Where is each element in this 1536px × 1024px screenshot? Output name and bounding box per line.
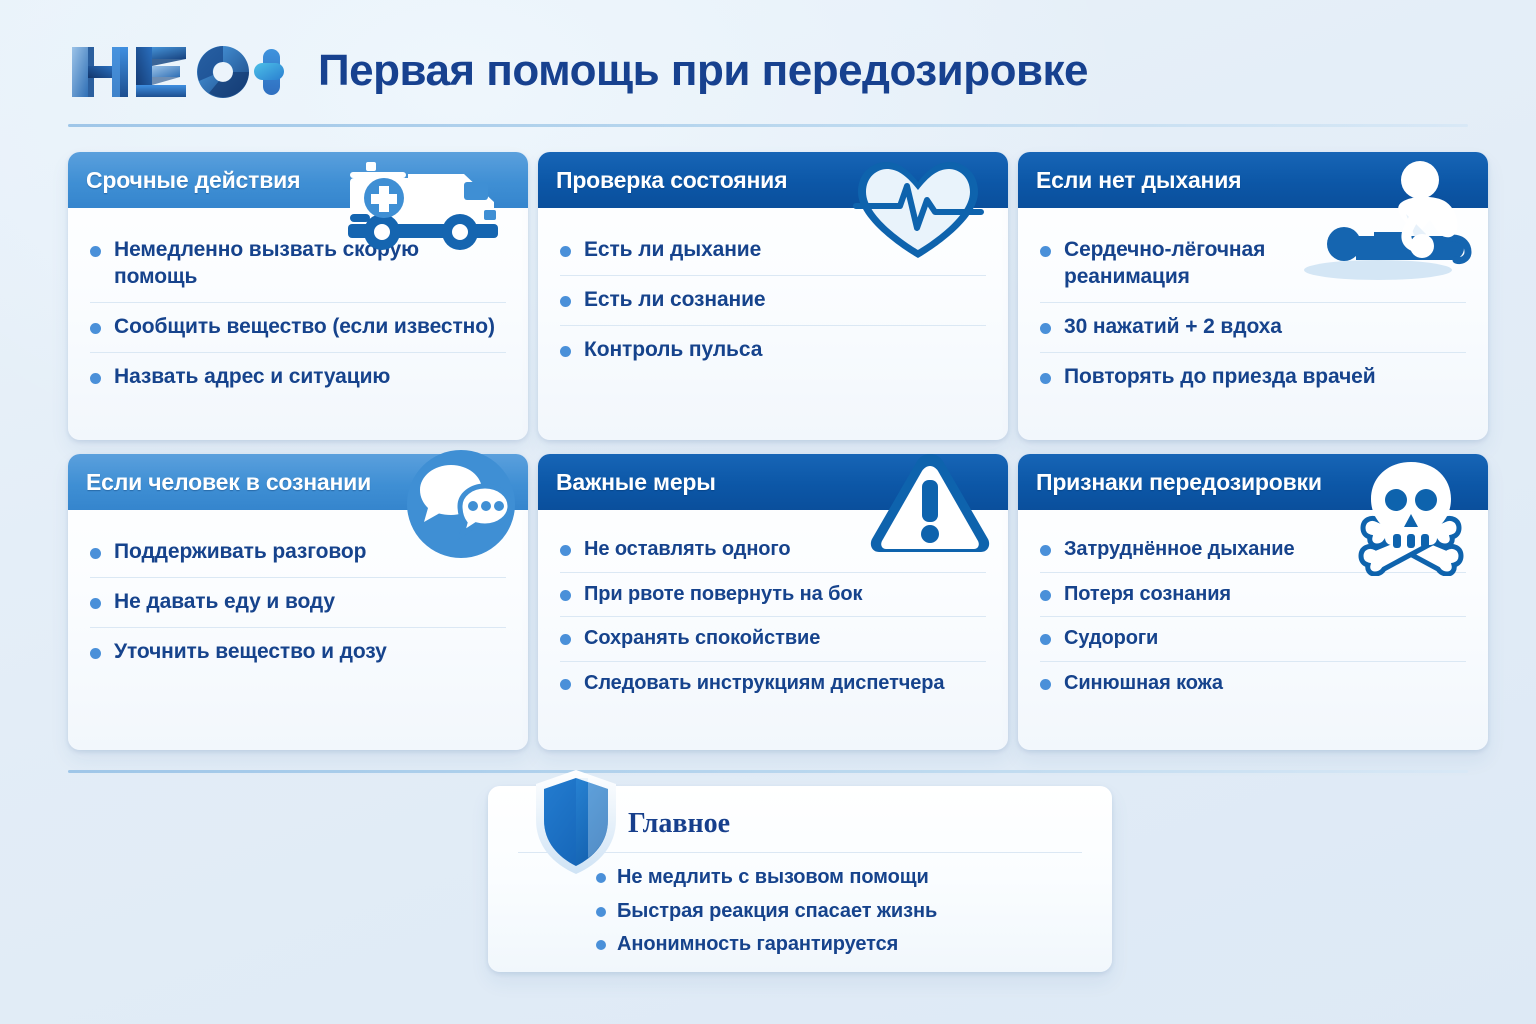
page-title: Первая помощь при передозировке — [318, 46, 1088, 96]
card-items: Немедленно вызвать скорую помощь Сообщит… — [68, 208, 528, 440]
bullet-icon — [1040, 590, 1051, 601]
bullet-icon — [560, 545, 571, 556]
list-item: Немедленно вызвать скорую помощь — [90, 226, 506, 303]
list-item: Уточнить вещество и дозу — [90, 628, 506, 677]
list-item-text: Сохранять спокойствие — [584, 626, 820, 652]
list-item-text: Сердечно-лёгочная реанимация — [1064, 237, 1309, 291]
list-item-text: Уточнить вещество и дозу — [114, 639, 387, 666]
bullet-icon — [90, 648, 101, 659]
card-items: Не оставлять одного При рвоте повернуть … — [538, 510, 1008, 750]
list-item: Синюшная кожа — [1040, 662, 1466, 706]
list-item-text: Следовать инструкциям диспетчера — [584, 671, 944, 697]
list-item: Не медлить с вызовом помощи — [596, 861, 1082, 895]
list-item: Судороги — [1040, 617, 1466, 662]
bullet-icon — [1040, 634, 1051, 645]
card-items: Сердечно-лёгочная реанимация 30 нажатий … — [1018, 208, 1488, 440]
list-item: Не давать еду и воду — [90, 578, 506, 628]
list-item: 30 нажатий + 2 вдоха — [1040, 303, 1466, 353]
list-item: Не оставлять одного — [560, 528, 986, 573]
list-item-text: Немедленно вызвать скорую помощь — [114, 237, 506, 291]
card-grid: Срочные действия — [68, 152, 1468, 750]
list-item-text: 30 нажатий + 2 вдоха — [1064, 314, 1282, 341]
bullet-icon — [90, 246, 101, 257]
bullet-icon — [596, 907, 606, 917]
list-item-text: Назвать адрес и ситуацию — [114, 364, 390, 391]
list-item-text: Контроль пульса — [584, 337, 762, 364]
card-title: Важные меры — [556, 469, 716, 496]
card-items: Затруднённое дыхание Потеря сознания Суд… — [1018, 510, 1488, 750]
summary-panel: Главное Не медлить с вызовом помощи Быст… — [488, 786, 1112, 972]
card-title: Признаки передозировки — [1036, 469, 1322, 496]
card-urgent-actions[interactable]: Срочные действия — [68, 152, 528, 440]
bottom-divider — [68, 770, 1468, 773]
list-item-text: Затруднённое дыхание — [1064, 537, 1295, 563]
bullet-icon — [560, 679, 571, 690]
card-header: Важные меры — [538, 454, 1008, 510]
list-item-text: Судороги — [1064, 626, 1158, 652]
bullet-icon — [560, 590, 571, 601]
summary-title: Главное — [628, 808, 730, 840]
card-header: Срочные действия — [68, 152, 528, 208]
card-header: Если человек в сознании — [68, 454, 528, 510]
card-title: Проверка состояния — [556, 167, 787, 194]
list-item-text: Не оставлять одного — [584, 537, 791, 563]
card-conscious-person[interactable]: Если человек в сознании Поддерживать раз… — [68, 454, 528, 750]
card-important-measures[interactable]: Важные меры Не оставлять одного При рвот… — [538, 454, 1008, 750]
list-item: Назвать адрес и ситуацию — [90, 353, 506, 402]
bullet-icon — [1040, 373, 1051, 384]
list-item: Повторять до приезда врачей — [1040, 353, 1466, 402]
card-header: Проверка состояния — [538, 152, 1008, 208]
list-item: Потеря сознания — [1040, 573, 1466, 618]
infographic-page: Первая помощь при передозировке Срочные … — [0, 0, 1536, 1024]
list-item: При рвоте повернуть на бок — [560, 573, 986, 618]
list-item-text: Синюшная кожа — [1064, 671, 1223, 697]
bullet-icon — [90, 323, 101, 334]
card-items: Поддерживать разговор Не давать еду и во… — [68, 510, 528, 750]
list-item-text: Не давать еду и воду — [114, 589, 335, 616]
card-header: Если нет дыхания — [1018, 152, 1488, 208]
card-no-breathing[interactable]: Если нет дыхания — [1018, 152, 1488, 440]
bullet-icon — [1040, 323, 1051, 334]
card-title: Если нет дыхания — [1036, 167, 1241, 194]
page-header: Первая помощь при передозировке — [68, 28, 1468, 114]
card-items: Есть ли дыхание Есть ли сознание Контрол… — [538, 208, 1008, 440]
bullet-icon — [560, 634, 571, 645]
list-item-text: Анонимность гарантируется — [617, 932, 898, 958]
list-item-text: Есть ли сознание — [584, 287, 766, 314]
list-item-text: При рвоте повернуть на бок — [584, 582, 862, 608]
card-title: Если человек в сознании — [86, 469, 371, 496]
card-overdose-signs[interactable]: Признаки передозировки — [1018, 454, 1488, 750]
neo-plus-logo — [68, 39, 284, 103]
summary-items: Не медлить с вызовом помощи Быстрая реак… — [518, 861, 1082, 962]
card-title: Срочные действия — [86, 167, 300, 194]
bullet-icon — [90, 548, 101, 559]
list-item-text: Повторять до приезда врачей — [1064, 364, 1376, 391]
bullet-icon — [560, 296, 571, 307]
list-item-text: Не медлить с вызовом помощи — [617, 865, 929, 891]
bullet-icon — [1040, 246, 1051, 257]
card-condition-check[interactable]: Проверка состояния Есть ли дыхание Есть … — [538, 152, 1008, 440]
bullet-icon — [596, 940, 606, 950]
bullet-icon — [1040, 679, 1051, 690]
list-item: Затруднённое дыхание — [1040, 528, 1466, 573]
bullet-icon — [560, 246, 571, 257]
header-divider — [68, 124, 1468, 127]
list-item-text: Есть ли дыхание — [584, 237, 761, 264]
list-item: Следовать инструкциям диспетчера — [560, 662, 986, 706]
bullet-icon — [1040, 545, 1051, 556]
list-item-text: Сообщить вещество (если известно) — [114, 314, 495, 341]
list-item: Сообщить вещество (если известно) — [90, 303, 506, 353]
bullet-icon — [90, 598, 101, 609]
list-item: Есть ли дыхание — [560, 226, 986, 276]
list-item-text: Потеря сознания — [1064, 582, 1231, 608]
list-item-text: Быстрая реакция спасает жизнь — [617, 899, 937, 925]
list-item: Быстрая реакция спасает жизнь — [596, 895, 1082, 929]
card-header: Признаки передозировки — [1018, 454, 1488, 510]
list-item-text: Поддерживать разговор — [114, 539, 366, 566]
bullet-icon — [90, 373, 101, 384]
list-item: Сохранять спокойствие — [560, 617, 986, 662]
bullet-icon — [560, 346, 571, 357]
list-item: Сердечно-лёгочная реанимация — [1040, 226, 1466, 303]
list-item: Анонимность гарантируется — [596, 928, 1082, 962]
list-item: Есть ли сознание — [560, 276, 986, 326]
list-item: Поддерживать разговор — [90, 528, 506, 578]
shield-icon — [530, 768, 622, 876]
list-item: Контроль пульса — [560, 326, 986, 375]
